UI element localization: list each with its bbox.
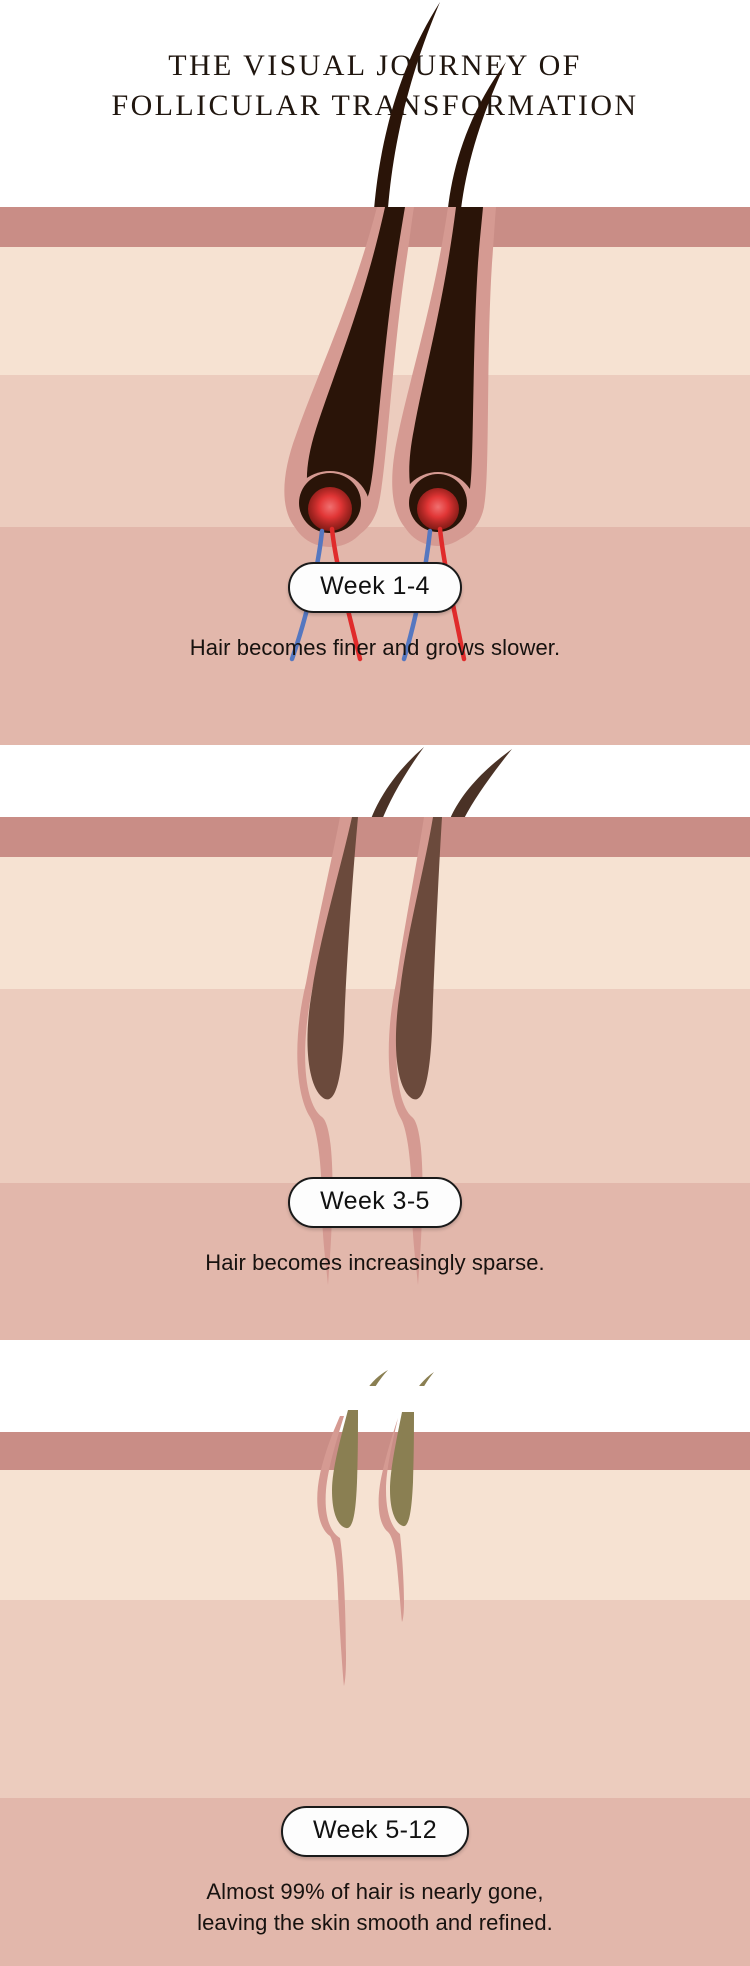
stage-caption-line: Almost 99% of hair is nearly gone, (0, 1876, 750, 1907)
stage-badge-wrap-week-1-4: Week 1-4 (0, 562, 750, 613)
stage-caption-line: Hair becomes increasingly sparse. (0, 1247, 750, 1278)
follicle-diagram-stage-1 (0, 207, 750, 745)
stage-panel-week-5-12: Week 5-12 Almost 99% of hair is nearly g… (0, 1340, 750, 1966)
stage-badge-week-1-4[interactable]: Week 1-4 (288, 562, 462, 613)
stage-caption-week-1-4: Hair becomes finer and grows slower. (0, 632, 750, 663)
stage-badge-week-3-5[interactable]: Week 3-5 (288, 1177, 462, 1228)
skin-cross-section-stage-1 (0, 207, 750, 745)
dermal-papilla-right (417, 488, 459, 530)
stage-caption-line: leaving the skin smooth and refined. (0, 1907, 750, 1938)
stage-panel-week-3-5: Week 3-5 Hair becomes increasingly spars… (0, 745, 750, 1340)
stage-caption-line: Hair becomes finer and grows slower. (0, 632, 750, 663)
stage-badge-wrap-week-3-5: Week 3-5 (0, 1177, 750, 1228)
hair-stub-right (390, 1412, 414, 1526)
stage-caption-week-3-5: Hair becomes increasingly sparse. (0, 1247, 750, 1278)
stage-badge-wrap-week-5-12: Week 5-12 (0, 1806, 750, 1857)
stage-panel-week-1-4: Week 1-4 Hair becomes finer and grows sl… (0, 0, 750, 745)
dermal-papilla-left (308, 487, 352, 531)
stage-badge-week-5-12[interactable]: Week 5-12 (281, 1806, 469, 1857)
stage-caption-week-5-12: Almost 99% of hair is nearly gone, leavi… (0, 1876, 750, 1938)
